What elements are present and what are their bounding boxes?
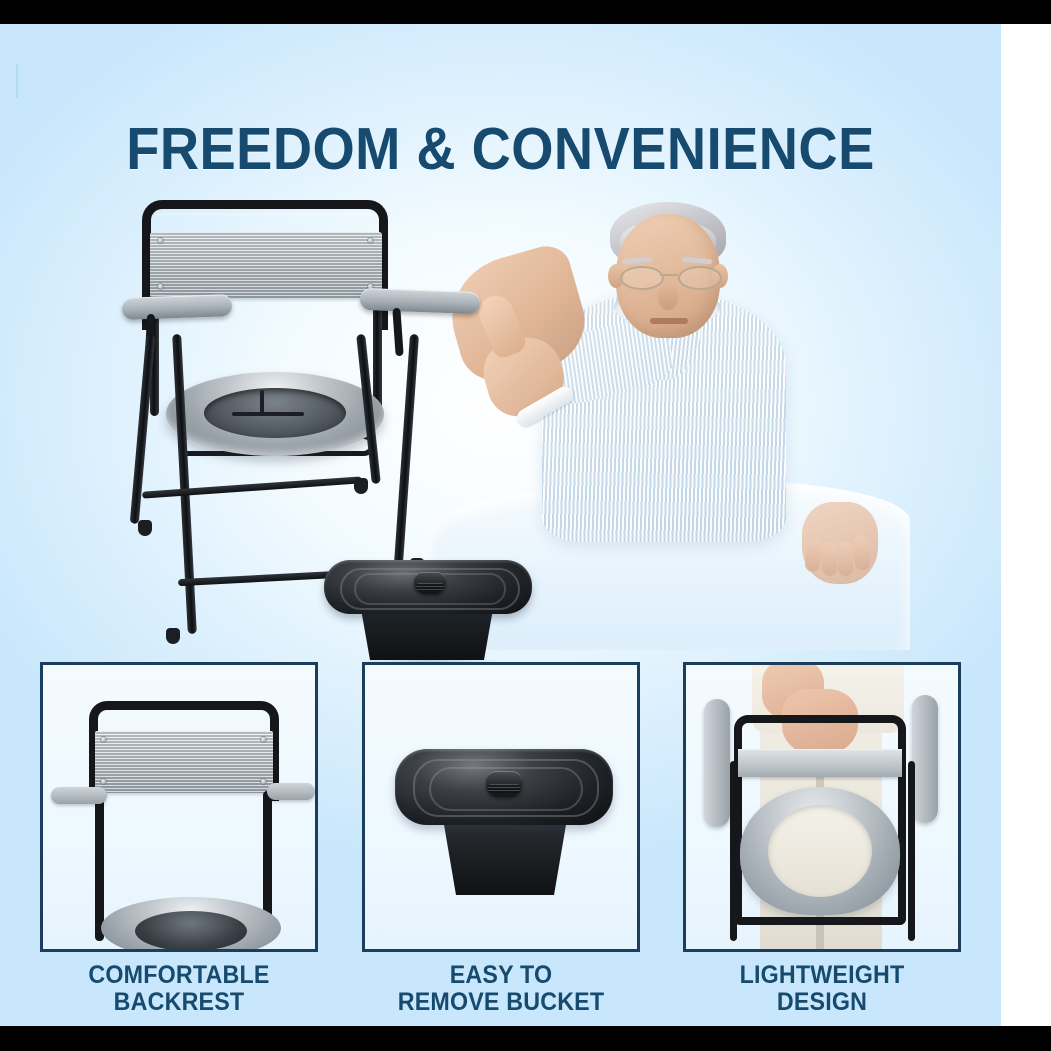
rivet [101,779,106,784]
armrest-left [122,294,233,320]
right-lens [678,266,722,290]
leg-front-right [394,334,419,564]
bucket-lid [395,749,613,825]
ribbed-backrest-panel [150,232,382,298]
eyeglasses-icon [618,266,720,286]
finger [804,537,822,572]
rivet [158,238,163,243]
seat-opening [135,911,247,951]
seat-brace [260,390,264,414]
frame-post-left [95,791,104,941]
seat-brace [232,412,304,416]
caption-line-1: EASY TO [361,962,642,989]
glasses-bridge [660,274,678,276]
rivet [368,238,373,243]
thumbs-up-icon [474,291,529,361]
feature-panel-easy-to-remove-bucket[interactable]: EASY TO REMOVE BUCKET [362,662,640,952]
feature-panels: COMFORTABLE BACKREST [0,662,1001,1026]
mouth [650,318,688,324]
frame-rail-left [730,761,737,941]
bucket-lid [324,560,532,614]
toilet-seat-ring-folded [740,787,900,915]
lid-knob [414,572,446,594]
seat-opening [204,388,346,438]
panel-caption-easy-to-remove-bucket: EASY TO REMOVE BUCKET [361,962,642,1016]
caption-line-2: REMOVE BUCKET [361,989,642,1016]
rubber-foot [138,520,152,536]
finger [852,535,870,570]
feature-panel-lightweight-design[interactable]: LIGHTWEIGHT DESIGN [683,662,961,952]
nose [658,284,678,310]
ribbed-backrest-panel-closeup [95,731,273,793]
panel-caption-comfortable-backrest: COMFORTABLE BACKREST [39,962,320,1016]
leg-front-left [172,334,197,634]
left-lens [620,266,664,290]
armrest-pad-left [704,699,730,827]
rivet [158,284,163,289]
scan-artifact-tick [16,64,18,98]
finger [822,542,837,576]
backrest-crossbar [738,749,902,777]
armrest-support-right [392,308,403,356]
toilet-seat-ring [166,372,384,456]
product-infographic: FREEDOM & CONVENIENCE [0,24,1001,1026]
panel-image-frame [362,662,640,952]
white-right-margin [1001,24,1051,1026]
armrest-right [360,288,481,314]
panel-caption-lightweight-design: LIGHTWEIGHT DESIGN [682,962,963,1016]
seat-opening [768,805,872,897]
caption-line-1: LIGHTWEIGHT [682,962,963,989]
page-title: FREEDOM & CONVENIENCE [40,120,961,179]
frame-rail-right [908,761,915,941]
poster-canvas: FREEDOM & CONVENIENCE [0,0,1051,1051]
caption-line-2: BACKREST [39,989,320,1016]
armrest-pad-right [912,695,938,823]
finger [838,542,853,576]
toilet-seat-ring-partial [101,897,281,952]
bucket-body [435,813,575,895]
bucket-closeup [395,731,613,899]
panel-image-frame [40,662,318,952]
caption-line-1: COMFORTABLE [39,962,320,989]
resting-right-hand [802,502,878,584]
armrest-left-closeup [51,787,107,804]
hero-section [0,174,1001,674]
rivet [101,737,106,742]
rivet [261,779,266,784]
letterbox-bar-top [0,0,1051,24]
lid-knob [486,771,522,797]
commode-bucket [322,544,534,664]
rubber-foot [354,478,368,494]
rubber-foot [166,628,180,644]
panel-image-frame [683,662,961,952]
letterbox-bar-bottom [0,1026,1051,1051]
rivet [261,737,266,742]
cross-brace-upper [142,476,362,498]
caption-line-2: DESIGN [682,989,963,1016]
feature-panel-comfortable-backrest[interactable]: COMFORTABLE BACKREST [40,662,318,952]
armrest-right-closeup [267,783,315,800]
